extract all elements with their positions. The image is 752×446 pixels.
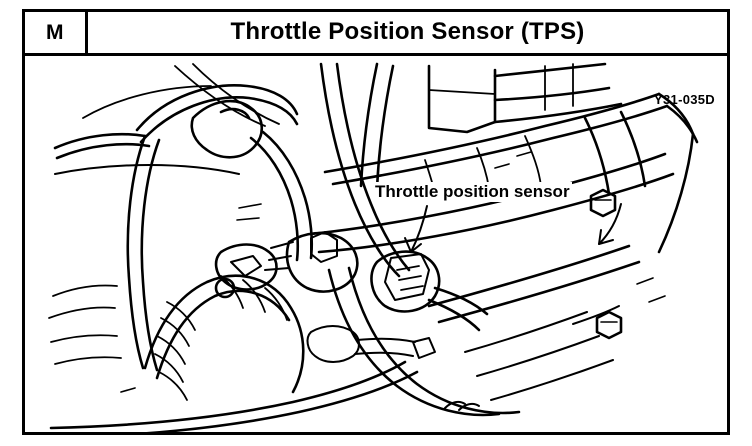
engine-bay-illustration bbox=[25, 56, 727, 432]
engine-bay-line-art-svg bbox=[25, 56, 727, 432]
figure-body-area: Y31-035D bbox=[25, 56, 727, 432]
section-code-cell: M bbox=[25, 12, 88, 53]
page-title: Throttle Position Sensor (TPS) bbox=[230, 20, 584, 44]
manual-block-frame: M Throttle Position Sensor (TPS) Y31-035… bbox=[22, 9, 730, 435]
section-title-cell: Throttle Position Sensor (TPS) bbox=[88, 12, 727, 53]
callout-throttle-position-sensor: Throttle position sensor bbox=[373, 182, 572, 202]
manual-page: M Throttle Position Sensor (TPS) Y31-035… bbox=[0, 0, 752, 446]
header-row: M Throttle Position Sensor (TPS) bbox=[25, 12, 727, 56]
section-code-label: M bbox=[46, 22, 64, 43]
